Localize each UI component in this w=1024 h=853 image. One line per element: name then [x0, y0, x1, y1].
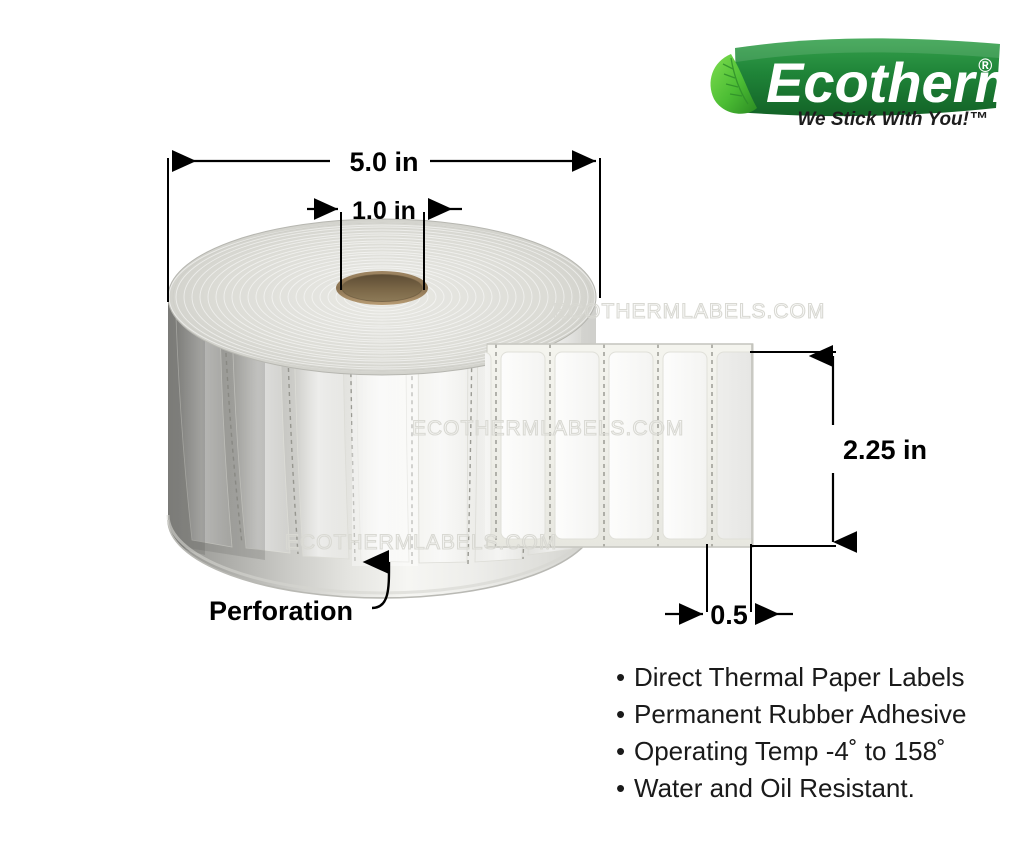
spec-bullet: • [616, 736, 625, 766]
spec-text: Water and Oil Resistant. [634, 773, 915, 803]
product-diagram-canvas: ECOTHERMLABELS.COM ECOTHERMLABELS.COM EC… [0, 0, 1024, 853]
spec-item: • Direct Thermal Paper Labels [616, 662, 964, 692]
spec-text: Direct Thermal Paper Labels [634, 662, 964, 692]
spec-bullet: • [616, 662, 625, 692]
spec-item: • Permanent Rubber Adhesive [616, 699, 966, 729]
specifications-list: • Direct Thermal Paper Labels • Permanen… [0, 0, 1024, 853]
spec-item: • Operating Temp -4˚ to 158˚ [616, 736, 946, 766]
spec-text: Operating Temp -4˚ to 158˚ [634, 736, 946, 766]
spec-item: • Water and Oil Resistant. [616, 773, 915, 803]
spec-bullet: • [616, 773, 625, 803]
spec-text: Permanent Rubber Adhesive [634, 699, 966, 729]
spec-bullet: • [616, 699, 625, 729]
